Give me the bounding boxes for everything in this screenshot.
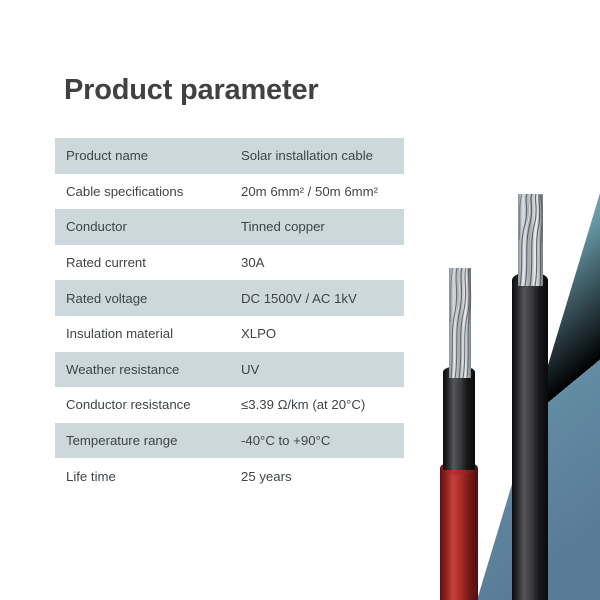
- table-row: Cable specifications 20m 6mm² / 50m 6mm²: [55, 174, 404, 210]
- thin-cable-red-sheath: [440, 468, 478, 600]
- page-title: Product parameter: [64, 70, 318, 110]
- spec-label: Rated voltage: [55, 291, 241, 306]
- spec-label: Insulation material: [55, 326, 241, 341]
- table-row: Rated voltage DC 1500V / AC 1kV: [55, 280, 404, 316]
- spec-value: ≤3.39 Ω/km (at 20°C): [241, 397, 365, 412]
- table-row: Conductor Tinned copper: [55, 209, 404, 245]
- table-row: Life time 25 years: [55, 458, 404, 494]
- thin-cable-conductor: [440, 262, 480, 378]
- thick-cable-conductor: [508, 186, 552, 286]
- table-row: Product name Solar installation cable: [55, 138, 404, 174]
- spec-label: Life time: [55, 469, 241, 484]
- spec-label: Temperature range: [55, 433, 241, 448]
- spec-label: Conductor: [55, 219, 241, 234]
- product-parameter-page: Product parameter Product name Solar ins…: [0, 0, 600, 600]
- spec-label: Product name: [55, 148, 241, 163]
- spec-label: Cable specifications: [55, 184, 241, 199]
- spec-label: Rated current: [55, 255, 241, 270]
- spec-value: UV: [241, 362, 259, 377]
- spec-value: DC 1500V / AC 1kV: [241, 291, 357, 306]
- spec-value: XLPO: [241, 326, 276, 341]
- spec-value: 25 years: [241, 469, 292, 484]
- spec-value: -40°C to +90°C: [241, 433, 330, 448]
- table-row: Weather resistance UV: [55, 352, 404, 388]
- table-row: Rated current 30A: [55, 245, 404, 281]
- spec-label: Conductor resistance: [55, 397, 241, 412]
- table-row: Temperature range -40°C to +90°C: [55, 423, 404, 459]
- spec-label: Weather resistance: [55, 362, 241, 377]
- spec-value: Tinned copper: [241, 219, 325, 234]
- thin-cable-black-sheath: [443, 372, 475, 470]
- spec-value: Solar installation cable: [241, 148, 373, 163]
- table-row: Conductor resistance ≤3.39 Ω/km (at 20°C…: [55, 387, 404, 423]
- spec-table: Product name Solar installation cable Ca…: [55, 138, 404, 494]
- spec-value: 30A: [241, 255, 264, 270]
- spec-value: 20m 6mm² / 50m 6mm²: [241, 184, 378, 199]
- table-row: Insulation material XLPO: [55, 316, 404, 352]
- thick-cable-black-sheath: [512, 280, 548, 600]
